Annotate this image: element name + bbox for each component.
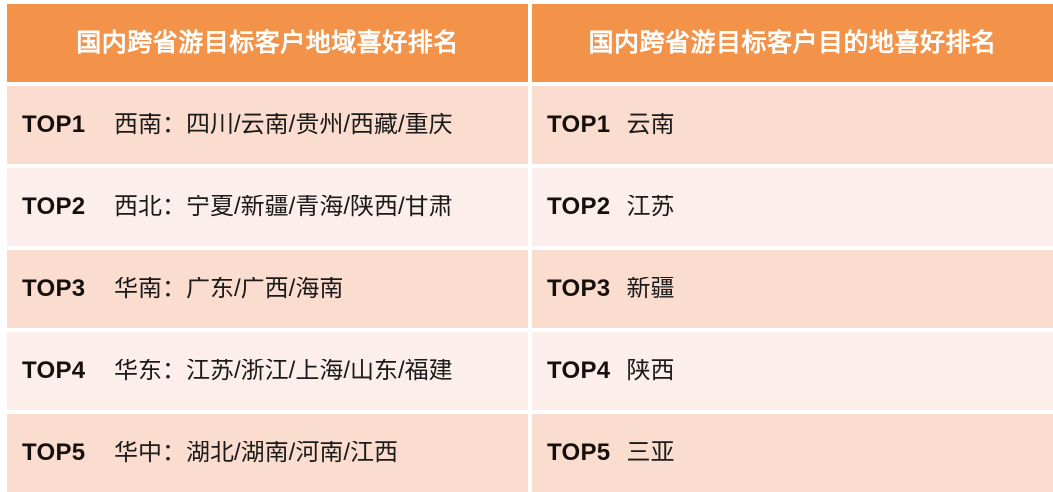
region-value: 华中：湖北/湖南/河南/江西 — [114, 441, 398, 465]
table-row: TOP2 西北：宁夏/新疆/青海/陕西/甘肃 — [7, 168, 528, 246]
destination-value: 江苏 — [626, 195, 674, 219]
rank-label: TOP5 — [22, 441, 114, 465]
region-value: 西南：四川/云南/贵州/西藏/重庆 — [114, 113, 453, 137]
rank-label: TOP2 — [22, 195, 114, 219]
region-value: 华东：江苏/浙江/上海/山东/福建 — [114, 359, 453, 383]
rank-label: TOP4 — [22, 359, 114, 383]
table-row: TOP3 华南：广东/广西/海南 — [7, 250, 528, 328]
column-header-region-preference-label: 国内跨省游目标客户地域喜好排名 — [76, 31, 459, 56]
table-row: TOP4 华东：江苏/浙江/上海/山东/福建 — [7, 332, 528, 410]
rank-label: TOP2 — [547, 195, 610, 219]
table-row: TOP2 江苏 — [532, 168, 1053, 246]
rank-label: TOP1 — [22, 113, 114, 137]
column-header-destination-preference: 国内跨省游目标客户目的地喜好排名 — [532, 4, 1053, 82]
destination-value: 陕西 — [626, 359, 674, 383]
ranking-table: 国内跨省游目标客户地域喜好排名 国内跨省游目标客户目的地喜好排名 TOP1 西南… — [0, 0, 1053, 492]
table-row: TOP5 三亚 — [532, 414, 1053, 492]
rank-label: TOP3 — [22, 277, 114, 301]
column-header-destination-preference-label: 国内跨省游目标客户目的地喜好排名 — [588, 31, 996, 56]
destination-value: 新疆 — [626, 277, 674, 301]
rank-label: TOP1 — [547, 113, 610, 137]
table-row: TOP4 陕西 — [532, 332, 1053, 410]
table-row: TOP3 新疆 — [532, 250, 1053, 328]
table-row: TOP5 华中：湖北/湖南/河南/江西 — [7, 414, 528, 492]
region-value: 西北：宁夏/新疆/青海/陕西/甘肃 — [114, 195, 453, 219]
rank-label: TOP5 — [547, 441, 610, 465]
region-value: 华南：广东/广西/海南 — [114, 277, 343, 301]
destination-value: 云南 — [626, 113, 674, 137]
table-row: TOP1 云南 — [532, 86, 1053, 164]
column-header-region-preference: 国内跨省游目标客户地域喜好排名 — [7, 4, 528, 82]
destination-value: 三亚 — [626, 441, 674, 465]
rank-label: TOP4 — [547, 359, 610, 383]
ranking-grid: 国内跨省游目标客户地域喜好排名 国内跨省游目标客户目的地喜好排名 TOP1 西南… — [7, 4, 1053, 492]
table-row: TOP1 西南：四川/云南/贵州/西藏/重庆 — [7, 86, 528, 164]
rank-label: TOP3 — [547, 277, 610, 301]
